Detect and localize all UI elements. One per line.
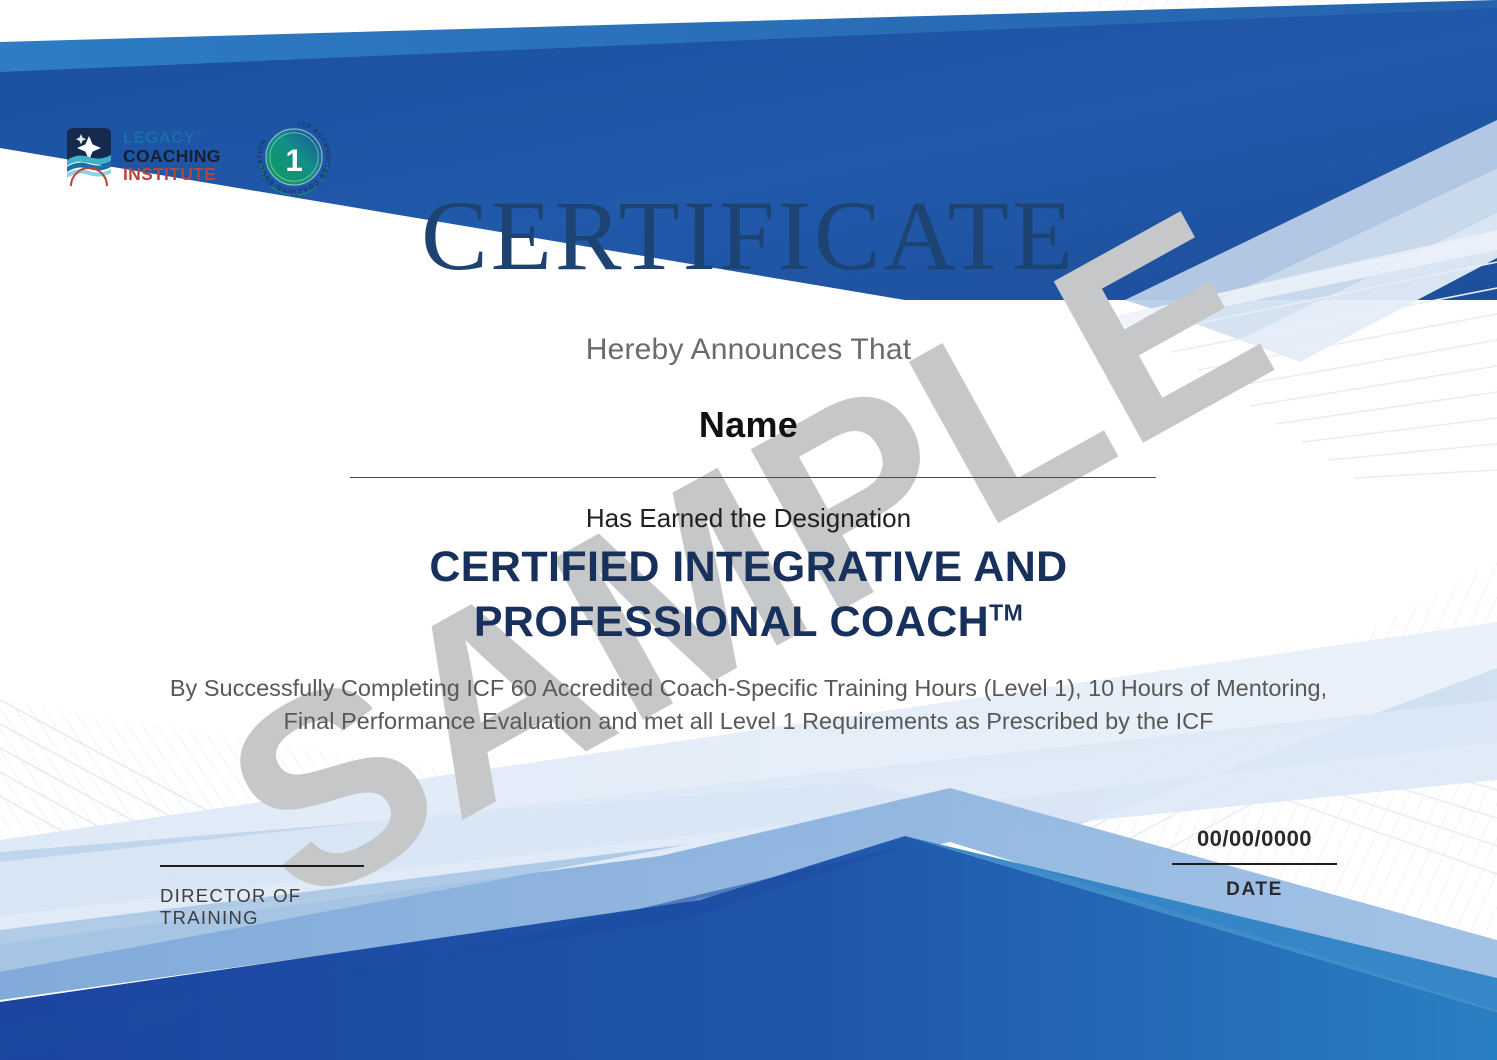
designation-lead-label: Has Earned the Designation: [0, 503, 1497, 534]
date-rule: [1172, 863, 1337, 865]
date-signature-block: 00/00/0000 DATE: [1172, 826, 1337, 901]
recipient-name: Name: [0, 404, 1497, 446]
director-signature-rule: [160, 865, 364, 867]
logo-row: LEGACY® COACHING INSTITUTE: [64, 118, 333, 196]
legacy-wordmark: LEGACY® COACHING INSTITUTE: [123, 130, 221, 184]
legacy-line1: LEGACY: [123, 129, 195, 147]
legacy-line3: INSTITUTE: [123, 166, 221, 184]
svg-text:1: 1: [285, 143, 302, 178]
trademark-icon: TM: [989, 600, 1023, 626]
svg-text:LEVEL: LEVEL: [255, 118, 257, 120]
registered-mark-icon: ®: [195, 130, 202, 139]
director-signature-block: DIRECTOR OF TRAINING: [160, 865, 364, 929]
designation-line-2: PROFESSIONAL COACH: [474, 598, 989, 646]
recipient-name-rule: [350, 477, 1156, 478]
certificate-page: SAMPLE LEGACY®: [0, 0, 1497, 1060]
date-caption: DATE: [1172, 879, 1337, 901]
icf-accredited-coaching-education-badge: ICF ACCREDITED COACHING EDUCATION LEVEL …: [255, 118, 333, 196]
hereby-announces-label: Hereby Announces That: [0, 333, 1497, 367]
designation-title: CERTIFIED INTEGRATIVE AND PROFESSIONAL C…: [0, 540, 1497, 650]
director-signature-caption: DIRECTOR OF TRAINING: [160, 885, 364, 929]
designation-line-1: CERTIFIED INTEGRATIVE AND: [429, 543, 1067, 591]
date-value: 00/00/0000: [1172, 826, 1337, 852]
accreditation-paragraph: By Successfully Completing ICF 60 Accred…: [150, 672, 1347, 739]
legacy-line2: COACHING: [123, 148, 221, 166]
page-title: CERTIFICATE: [0, 186, 1497, 286]
legacy-coaching-institute-logo: LEGACY® COACHING INSTITUTE: [64, 126, 221, 188]
legacy-mark-icon: [64, 126, 114, 188]
